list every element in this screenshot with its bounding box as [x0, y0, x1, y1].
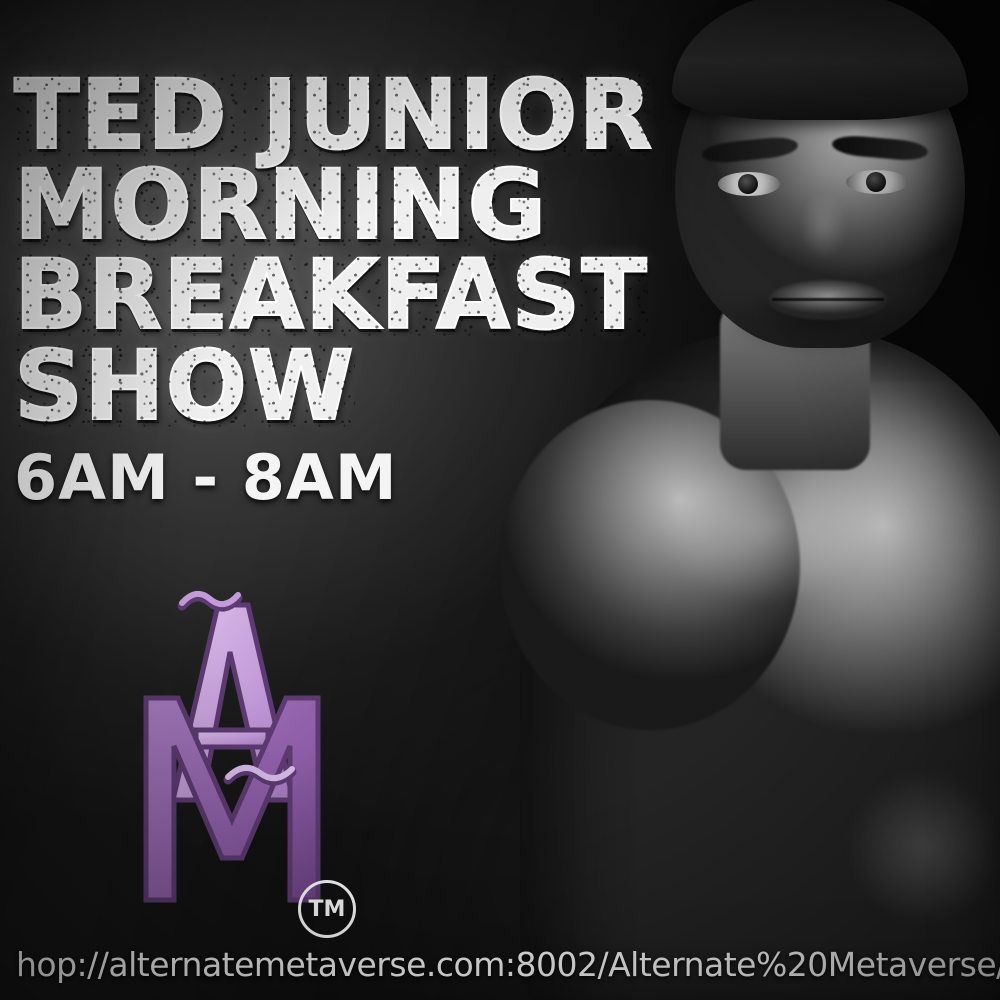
title-text-1: TED JUNIOR — [14, 70, 653, 160]
avatar-pupil-left — [738, 174, 758, 194]
title-text-4: SHOW — [14, 341, 355, 431]
show-time-range: 6AM - 8AM — [14, 447, 734, 509]
poster-image: TED JUNIOR MORNING BREAKFAST SHOW 6AM - … — [0, 0, 1000, 1000]
trademark-icon: TM — [298, 880, 356, 938]
title-text-3: BREAKFAST — [14, 250, 648, 340]
logo-monogram-svg — [78, 570, 368, 930]
title-text-2: MORNING — [14, 160, 547, 250]
alternate-metaverse-logo — [78, 570, 368, 930]
title-line-2: MORNING — [14, 160, 734, 250]
avatar-pupil-right — [866, 172, 886, 192]
hop-url-text: hop://alternatemetaverse.com:8002/Altern… — [16, 945, 984, 984]
avatar-nose — [780, 196, 850, 292]
title-line-3: BREAKFAST — [14, 250, 734, 340]
avatar-lip-line — [772, 298, 884, 301]
title-line-1: TED JUNIOR — [14, 70, 734, 160]
title-line-4: SHOW — [14, 341, 734, 431]
title-block: TED JUNIOR MORNING BREAKFAST SHOW 6AM - … — [14, 70, 734, 509]
